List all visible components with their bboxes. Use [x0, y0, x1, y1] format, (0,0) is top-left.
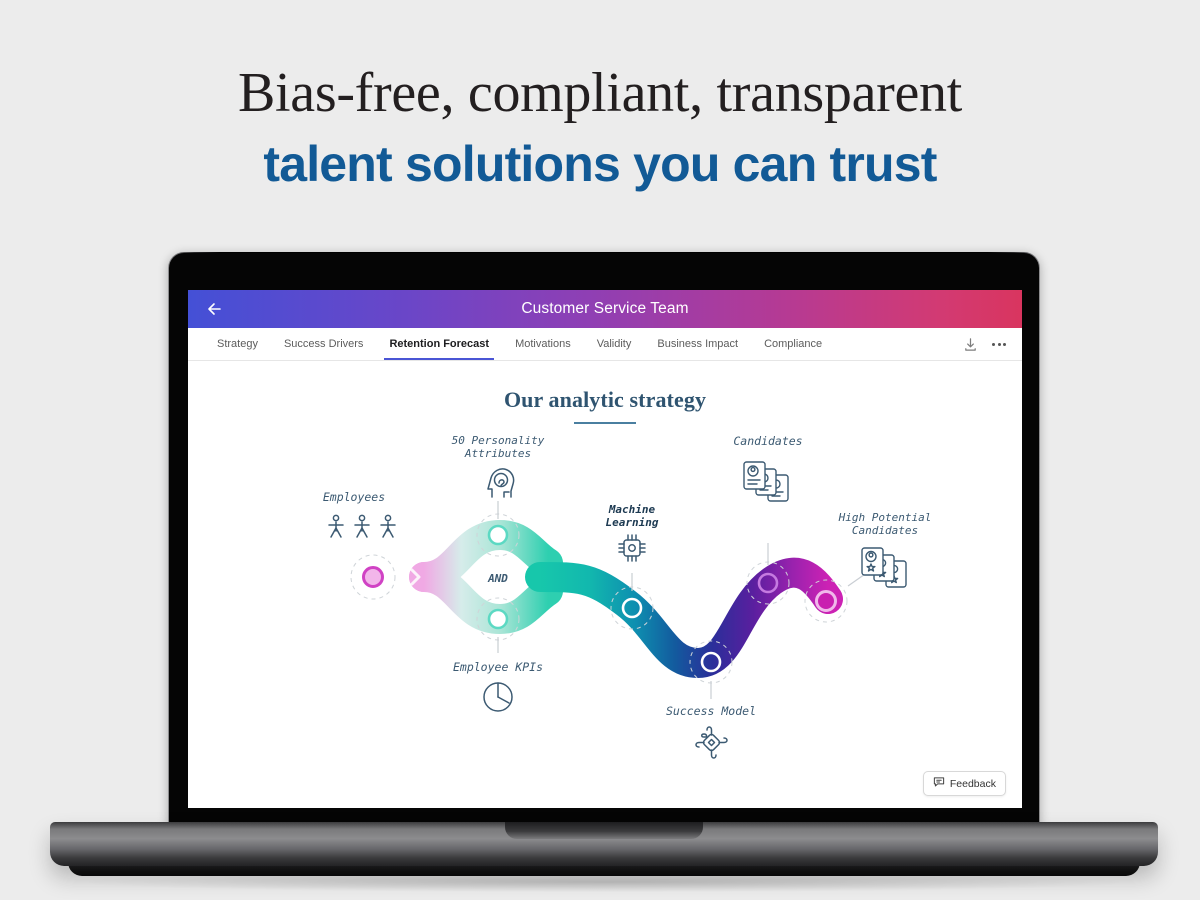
analytic-strategy-diagram: AND Employees: [188, 431, 1022, 806]
laptop-mockup: Customer Service Team Strategy Success D…: [168, 252, 1040, 827]
node-high-potential-candidates: High Potential Candidates: [838, 511, 932, 587]
tab-motivations[interactable]: Motivations: [502, 328, 584, 360]
slide-title-underline: [574, 422, 636, 424]
tab-validity[interactable]: Validity: [584, 328, 645, 360]
slide-content: Our analytic strategy: [188, 361, 1022, 808]
starred-profile-cards-icon: [862, 548, 906, 587]
head-profile-icon: [488, 469, 514, 497]
node-employees: Employees: [323, 490, 395, 537]
node-high-potential-label-2: Candidates: [852, 524, 918, 537]
people-group-icon: [329, 515, 395, 537]
node-success-model: Success Model: [666, 704, 756, 758]
laptop-screen: Customer Service Team Strategy Success D…: [188, 290, 1022, 808]
node-success-model-label: Success Model: [666, 704, 756, 718]
node-machine-learning: Machine Learning: [606, 503, 659, 561]
node-machine-learning-label-2: Learning: [606, 516, 659, 529]
node-employee-kpis: Employee KPIs: [453, 660, 543, 711]
node-personality-attributes: 50 Personality Attributes: [452, 434, 545, 497]
profile-cards-icon: [744, 462, 788, 501]
tab-success-drivers[interactable]: Success Drivers: [271, 328, 376, 360]
connector-label-and: AND: [487, 572, 508, 585]
ribbon-flow: [373, 535, 828, 663]
feedback-button[interactable]: Feedback: [923, 771, 1006, 796]
headline-line-1: Bias-free, compliant, transparent: [0, 62, 1200, 124]
laptop-shadow: [78, 872, 1130, 892]
tab-retention-forecast[interactable]: Retention Forecast: [376, 328, 502, 360]
pie-chart-icon: [484, 683, 512, 711]
app-header: Customer Service Team: [188, 290, 1022, 328]
headline-line-2: talent solutions you can trust: [0, 134, 1200, 194]
slide-title: Our analytic strategy: [188, 361, 1022, 413]
laptop-base: [50, 822, 1158, 866]
node-employee-kpis-label: Employee KPIs: [453, 660, 543, 674]
tab-actions: [963, 337, 1022, 352]
network-node-icon: [696, 727, 727, 758]
node-high-potential-label-1: High Potential: [838, 511, 932, 524]
node-candidates: Candidates: [733, 434, 802, 501]
node-candidates-label: Candidates: [733, 434, 802, 448]
tab-bar: Strategy Success Drivers Retention Forec…: [188, 328, 1022, 361]
chat-bubble-icon: [933, 776, 945, 791]
tab-business-impact[interactable]: Business Impact: [644, 328, 751, 360]
more-options-icon[interactable]: [992, 343, 1006, 346]
download-icon[interactable]: [963, 337, 978, 352]
node-employees-label: Employees: [323, 490, 385, 504]
feedback-label: Feedback: [950, 778, 996, 790]
tab-list: Strategy Success Drivers Retention Forec…: [188, 328, 835, 360]
node-personality-label-1: 50 Personality: [452, 434, 545, 447]
tab-strategy[interactable]: Strategy: [204, 328, 271, 360]
node-machine-learning-label-1: Machine: [608, 503, 656, 516]
cpu-chip-icon: [619, 535, 645, 561]
hero-headline: Bias-free, compliant, transparent talent…: [0, 62, 1200, 194]
back-arrow-icon[interactable]: [204, 298, 226, 320]
node-personality-label-2: Attributes: [464, 447, 531, 460]
tab-compliance[interactable]: Compliance: [751, 328, 835, 360]
app-title: Customer Service Team: [188, 300, 1022, 318]
